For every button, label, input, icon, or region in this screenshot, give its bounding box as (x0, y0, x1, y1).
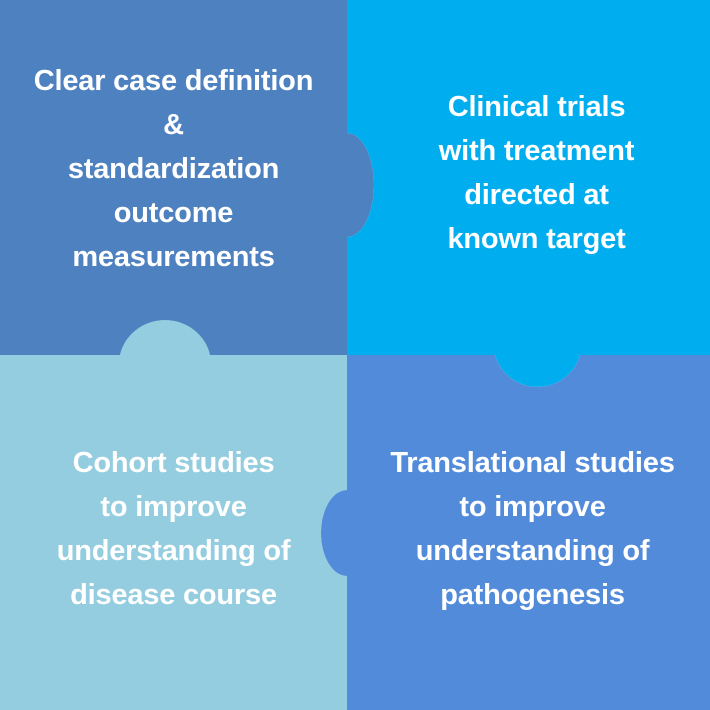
puzzle-piece-bottom-right[interactable] (321, 355, 710, 710)
puzzle-piece-top-left[interactable] (0, 0, 374, 355)
puzzle-piece-bottom-left[interactable] (0, 320, 347, 710)
puzzle-pieces-graphic (0, 0, 710, 710)
puzzle-piece-top-right[interactable] (347, 0, 710, 387)
jigsaw-diagram: Clear case definition & standardization … (0, 0, 710, 710)
